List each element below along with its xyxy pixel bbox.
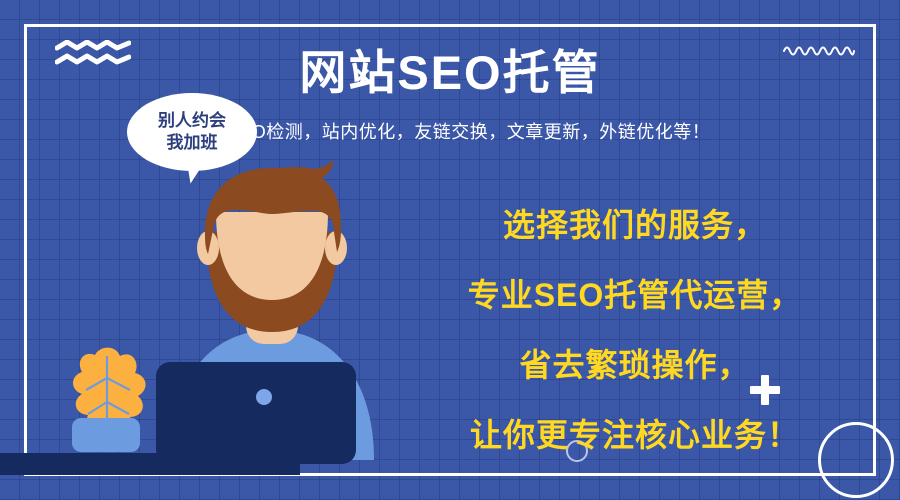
speech-bubble-line-2: 我加班 bbox=[167, 132, 218, 154]
potted-plant-icon bbox=[72, 348, 146, 452]
copy-line-2: 专业SEO托管代运营， bbox=[400, 260, 870, 330]
copy-line-3: 省去繁琐操作， bbox=[400, 330, 870, 400]
person-head bbox=[197, 160, 347, 332]
page-title: 网站SEO托管 bbox=[0, 48, 900, 99]
copy-line-1: 选择我们的服务， bbox=[400, 190, 870, 260]
laptop-icon bbox=[156, 362, 356, 464]
speech-bubble-line-1: 别人约会 bbox=[158, 110, 226, 132]
seo-hosting-banner: × 网站SEO托管 含：SEO检测，站内优化，友链交换，文章更新，外链优化等！ … bbox=[0, 0, 900, 500]
speech-bubble-text: 别人约会 我加班 bbox=[127, 93, 257, 171]
desk-surface bbox=[0, 453, 300, 475]
copy-line-4: 让你更专注核心业务！ bbox=[400, 400, 870, 470]
speech-bubble: 别人约会 我加班 bbox=[127, 93, 257, 171]
person-body bbox=[170, 282, 374, 460]
marketing-copy: 选择我们的服务， 专业SEO托管代运营， 省去繁琐操作， 让你更专注核心业务！ bbox=[400, 190, 870, 470]
